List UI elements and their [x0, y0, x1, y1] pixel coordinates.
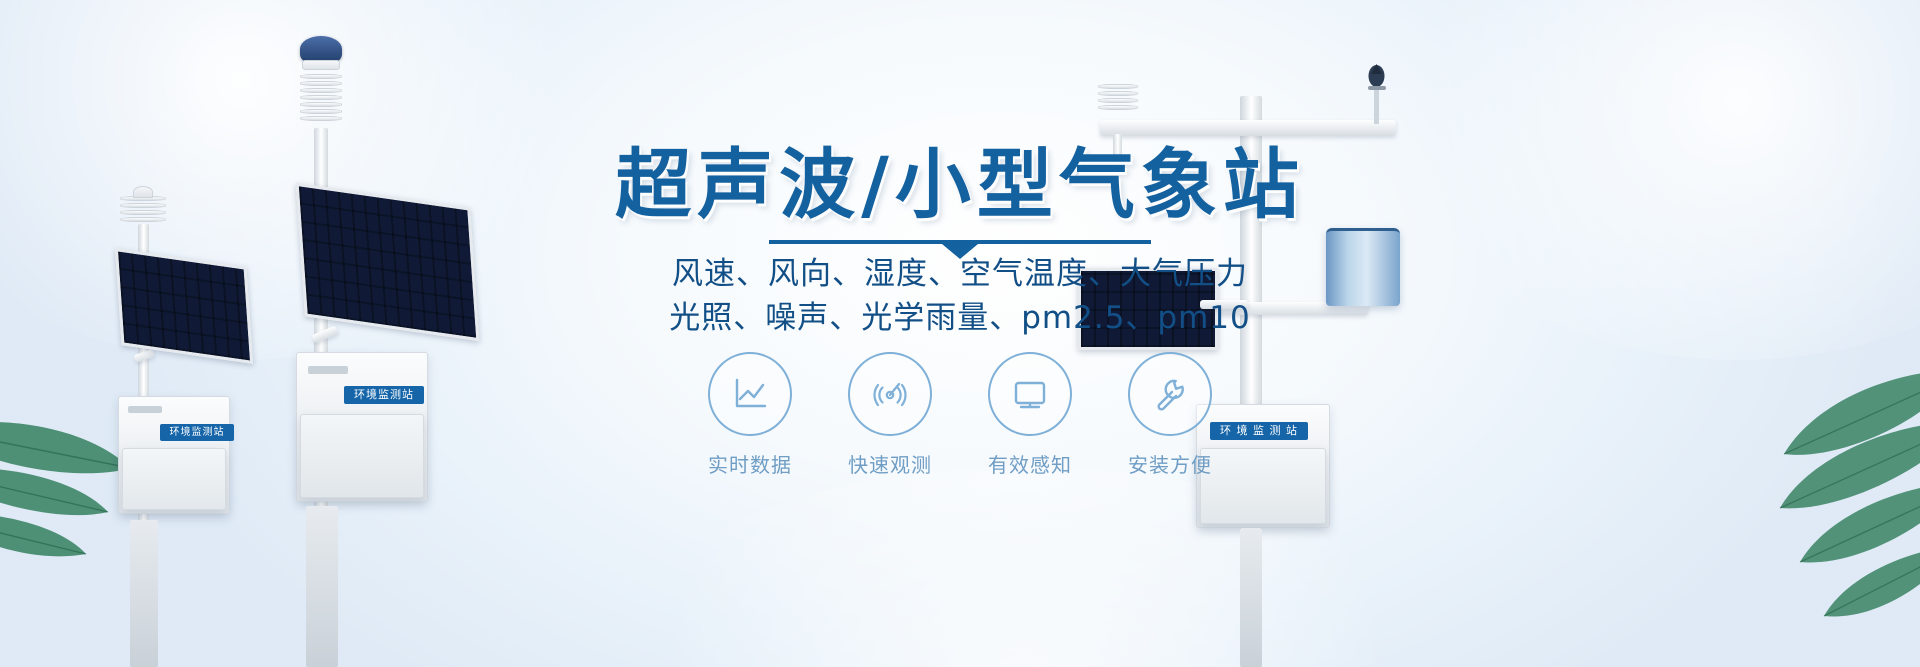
monitor-screen-icon [988, 352, 1072, 436]
radar-signal-icon [848, 352, 932, 436]
wrench-icon [1128, 352, 1212, 436]
title-divider [769, 240, 1151, 244]
subtitle-line-2: 光照、噪声、光学雨量、pm2.5、pm10 [669, 292, 1251, 337]
feature-list: 实时数据 快速观测 [708, 352, 1212, 478]
product-banner: 环境监测站 G 风途 环境监测站 G 风途 [0, 0, 1920, 667]
banner-text-content: 超声波/小型气象站 风速、风向、湿度、空气温度、大气压力 光照、噪声、光学雨量、… [0, 0, 1920, 667]
feature-item-fast-observation[interactable]: 快速观测 [848, 352, 932, 478]
line-chart-icon [708, 352, 792, 436]
feature-item-easy-install[interactable]: 安装方便 [1128, 352, 1212, 478]
feature-label: 安装方便 [1128, 449, 1212, 478]
feature-item-effective-sensing[interactable]: 有效感知 [988, 352, 1072, 478]
feature-label: 快速观测 [848, 449, 932, 478]
subtitle-line-1: 风速、风向、湿度、空气温度、大气压力 [672, 248, 1248, 293]
feature-label: 实时数据 [708, 449, 792, 478]
page-title: 超声波/小型气象站 [615, 123, 1305, 233]
feature-item-realtime-data[interactable]: 实时数据 [708, 352, 792, 478]
feature-label: 有效感知 [988, 449, 1072, 478]
